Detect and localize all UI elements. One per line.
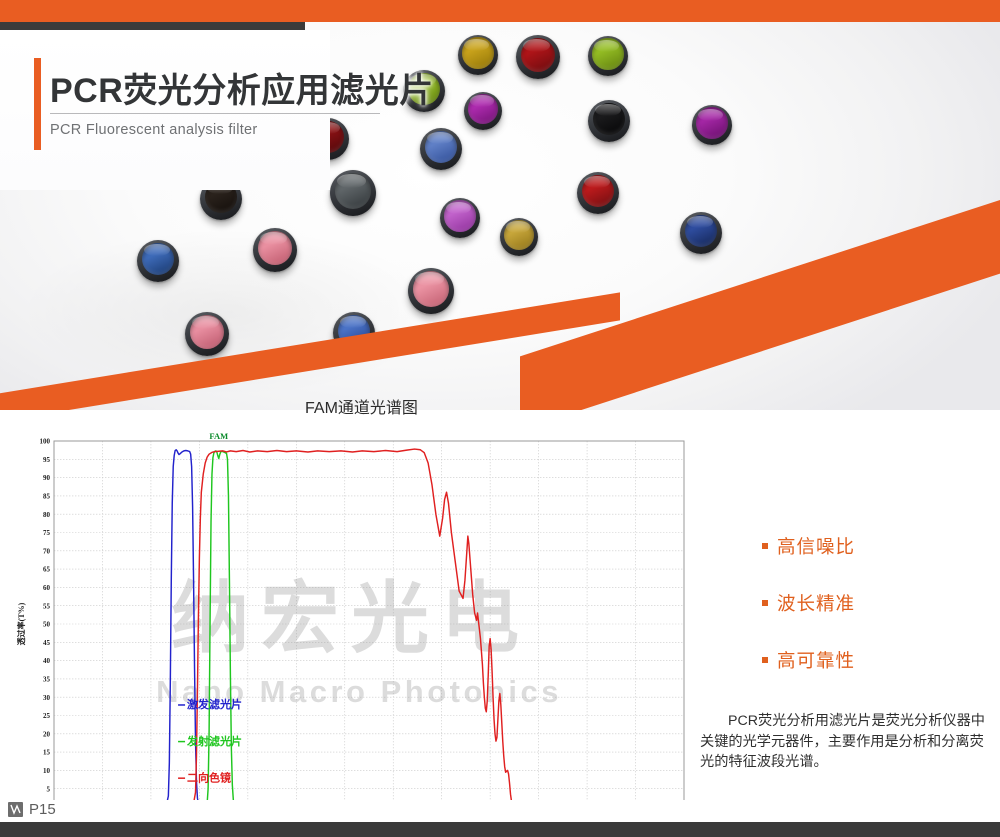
y-tick-label: 10 — [43, 767, 51, 775]
y-tick-label: 30 — [43, 694, 51, 702]
y-tick-label: 65 — [43, 566, 51, 574]
disc-optical-face — [258, 231, 292, 265]
bullet-square-icon — [762, 657, 768, 663]
y-tick-label: 60 — [43, 584, 51, 592]
y-tick-label: 70 — [43, 547, 51, 555]
legend-label: 激发滤光片 — [187, 697, 242, 711]
page-title: PCR荧光分析应用滤光片 — [50, 63, 434, 112]
filter-disc-red-2 — [577, 172, 619, 214]
page-marker: P15 — [8, 801, 56, 818]
y-tick-label: 50 — [43, 621, 51, 629]
filter-disc-blue-1 — [420, 128, 462, 170]
y-tick-label: 25 — [43, 712, 51, 720]
bullet-square-icon — [762, 600, 768, 606]
hero-dark-accent-bar — [0, 22, 305, 30]
page-footer — [0, 800, 1000, 837]
filter-disc-yellow-2 — [500, 218, 538, 256]
y-tick-label: 85 — [43, 493, 51, 501]
hero-top-orange-bar — [0, 0, 1000, 22]
page-number: P15 — [29, 801, 56, 818]
filter-disc-green-1 — [588, 36, 628, 76]
y-tick-label: 35 — [43, 676, 51, 684]
y-tick-label: 75 — [43, 529, 51, 537]
disc-optical-face — [190, 315, 224, 349]
filter-disc-magenta-1 — [464, 92, 502, 130]
filter-disc-pink-3 — [185, 312, 229, 356]
disc-optical-face — [444, 200, 475, 231]
legend-label: 发射滤光片 — [186, 734, 242, 748]
brand-logo-icon — [8, 802, 23, 817]
filter-disc-grey-1 — [330, 170, 376, 216]
chart-title: FAM通道光谱图 — [305, 394, 418, 418]
spectrum-chart: 纳宏光电Nano Macro Photonics0510152025303540… — [12, 430, 702, 820]
y-tick-label: 20 — [43, 730, 51, 738]
description-paragraph: PCR荧光分析用滤光片是荧光分析仪器中关键的光学元器件，主要作用是分析和分离荧光… — [700, 711, 996, 773]
disc-optical-face — [335, 173, 371, 209]
list-item: 波长精准 — [762, 590, 992, 616]
bullet-label: 高可靠性 — [777, 647, 855, 673]
bullet-label: 高信噪比 — [777, 533, 855, 559]
disc-optical-face — [468, 94, 498, 124]
chart-inner-label: FAM — [209, 431, 228, 441]
y-tick-label: 100 — [40, 438, 51, 446]
bullet-square-icon — [762, 543, 768, 549]
title-divider-rule — [50, 113, 380, 114]
filter-disc-black-1 — [588, 100, 630, 142]
y-axis-title: 透过率(T%) — [16, 602, 26, 645]
footer-dark-strip — [0, 822, 1000, 837]
filter-disc-magenta-2 — [692, 105, 732, 145]
filter-disc-pink-2 — [408, 268, 454, 314]
y-tick-label: 90 — [43, 474, 51, 482]
title-accent-bar — [34, 58, 41, 150]
feature-bullet-list: 高信噪比 波长精准 高可靠性 — [762, 533, 992, 704]
y-tick-label: 40 — [43, 657, 51, 665]
y-tick-label: 5 — [47, 785, 51, 793]
disc-optical-face — [521, 38, 555, 72]
disc-optical-face — [462, 37, 493, 68]
filter-disc-pink-1 — [253, 228, 297, 272]
list-item: 高信噪比 — [762, 533, 992, 559]
disc-optical-face — [592, 38, 623, 69]
disc-optical-face — [504, 220, 534, 250]
filter-disc-navy-1 — [680, 212, 722, 254]
filter-disc-red-1 — [516, 35, 560, 79]
disc-optical-face — [413, 271, 449, 307]
y-tick-label: 15 — [43, 749, 51, 757]
y-tick-label: 95 — [43, 456, 51, 464]
filter-disc-yellow-1 — [458, 35, 498, 75]
disc-optical-face — [696, 107, 727, 138]
y-tick-label: 55 — [43, 602, 51, 610]
hero-banner: PCR荧光分析应用滤光片 PCR Fluorescent analysis fi… — [0, 0, 1000, 410]
bullet-label: 波长精准 — [777, 590, 855, 616]
chart-watermark: 纳宏光电Nano Macro Photonics — [156, 574, 562, 709]
y-tick-label: 80 — [43, 511, 51, 519]
list-item: 高可靠性 — [762, 647, 992, 673]
y-tick-label: 45 — [43, 639, 51, 647]
legend-label: 二向色镜 — [187, 770, 231, 784]
filter-disc-navy-2 — [137, 240, 179, 282]
chart-canvas: 纳宏光电Nano Macro Photonics0510152025303540… — [12, 430, 702, 820]
filter-disc-violet-1 — [440, 198, 480, 238]
page-subtitle: PCR Fluorescent analysis filter — [50, 122, 258, 138]
